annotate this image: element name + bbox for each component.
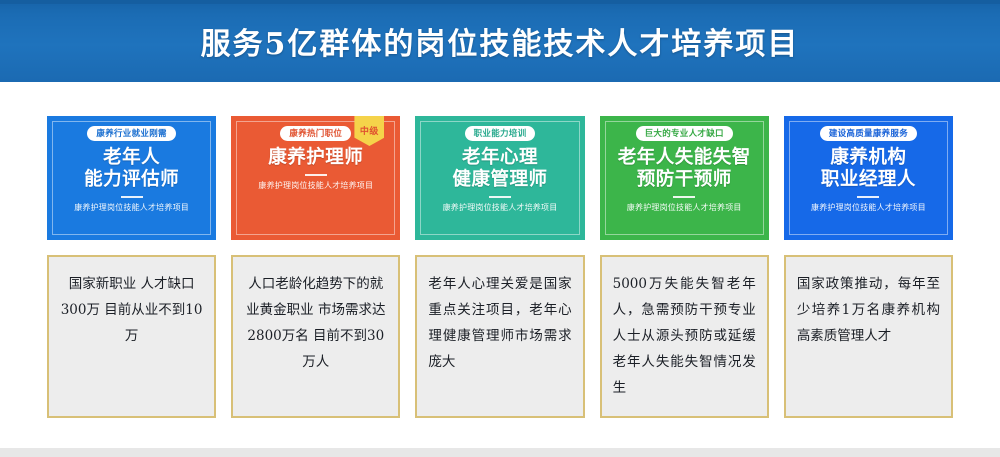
description-note-2: 人口老龄化趋势下的就业黄金职业 市场需求达 2800万名 目前不到30万人 [231,255,400,418]
description-note-3: 老年人心理关爱是国家重点关注项目，老年心理健康管理师市场需求庞大 [415,255,584,418]
description-note-4: 5000万失能失智老年人，急需预防干预专业人士从源头预防或延缓老年人失能失智情况… [600,255,769,418]
bottom-strip [0,448,1000,457]
card-title-line-2: 职业经理人 [821,169,916,191]
card-title-line-1: 老年心理 [453,147,548,169]
card-footer-label: 康养护理岗位技能人才培养项目 [443,202,558,213]
profession-card-row: 康养行业就业刚需老年人能力评估师康养护理岗位技能人才培养项目中级康养热门职位康养… [47,116,953,240]
card-title: 康养机构职业经理人 [821,147,916,191]
description-note-5: 国家政策推动，每年至少培养1万名康养机构高素质管理人才 [784,255,953,418]
card-title-line-1: 康养机构 [821,147,916,169]
card-title: 老年心理健康管理师 [453,147,548,191]
profession-card-3[interactable]: 职业能力培训老年心理健康管理师康养护理岗位技能人才培养项目 [415,116,584,240]
profession-card-2[interactable]: 中级康养热门职位康养护理师康养护理岗位技能人才培养项目 [231,116,400,240]
page-header-banner: 服务5亿群体的岗位技能技术人才培养项目 [0,0,1000,82]
card-divider [121,196,143,198]
card-title-line-1: 老年人失能失智 [618,147,751,169]
card-title: 老年人失能失智预防干预师 [618,147,751,191]
level-ribbon-badge: 中级 [354,116,384,146]
card-title-line-2: 预防干预师 [618,169,751,191]
card-tagline-badge: 巨大的专业人才缺口 [636,126,733,141]
card-divider [673,196,695,198]
card-title: 康养护理师 [268,147,363,169]
card-title-line-2: 能力评估师 [84,169,179,191]
card-footer-label: 康养护理岗位技能人才培养项目 [811,202,926,213]
card-divider [305,174,327,176]
card-title-line-1: 老年人 [84,147,179,169]
card-divider [857,196,879,198]
card-tagline-badge: 建设高质量康养服务 [820,126,917,141]
card-tagline-badge: 康养热门职位 [280,126,351,141]
description-note-row: 国家新职业 人才缺口300万 目前从业不到10万人口老龄化趋势下的就业黄金职业 … [47,255,953,418]
card-divider [489,196,511,198]
card-tagline-badge: 职业能力培训 [465,126,536,141]
card-footer-label: 康养护理岗位技能人才培养项目 [258,180,373,191]
profession-card-1[interactable]: 康养行业就业刚需老年人能力评估师康养护理岗位技能人才培养项目 [47,116,216,240]
profession-card-5[interactable]: 建设高质量康养服务康养机构职业经理人康养护理岗位技能人才培养项目 [784,116,953,240]
profession-card-4[interactable]: 巨大的专业人才缺口老年人失能失智预防干预师康养护理岗位技能人才培养项目 [600,116,769,240]
card-footer-label: 康养护理岗位技能人才培养项目 [627,202,742,213]
card-tagline-badge: 康养行业就业刚需 [87,126,175,141]
card-title-line-2: 健康管理师 [453,169,548,191]
card-title-line-1: 康养护理师 [268,147,363,169]
card-title: 老年人能力评估师 [84,147,179,191]
page-title: 服务5亿群体的岗位技能技术人才培养项目 [201,19,800,63]
card-footer-label: 康养护理岗位技能人才培养项目 [74,202,189,213]
description-note-1: 国家新职业 人才缺口300万 目前从业不到10万 [47,255,216,418]
